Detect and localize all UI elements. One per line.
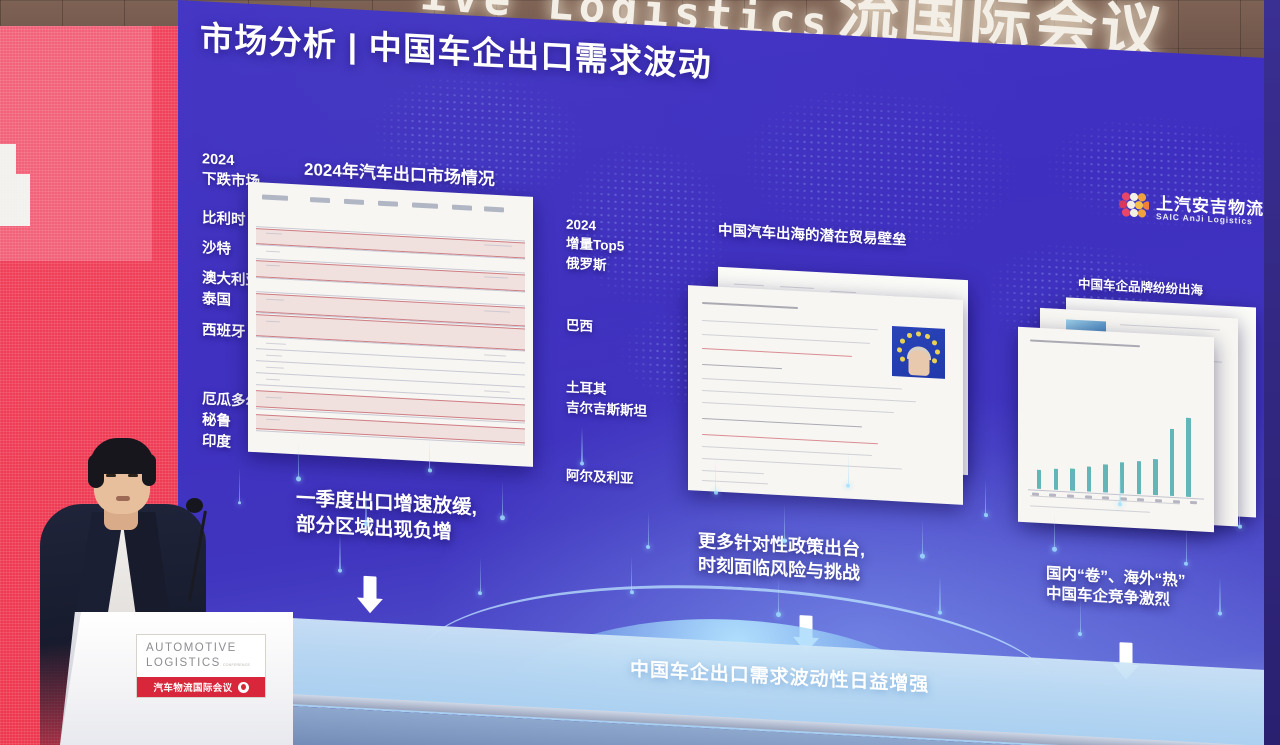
particle-trail (631, 556, 632, 590)
particle-trail (1186, 528, 1187, 562)
particle-dot (428, 468, 432, 472)
chart-x-tick (1155, 499, 1162, 502)
chart-x-tick (1173, 500, 1180, 503)
chart-bar (1037, 470, 1041, 489)
column-header-middle: 中国汽车出海的潜在贸易壁垒 (718, 219, 907, 250)
particle-trail (1219, 577, 1220, 611)
chart-bar (1170, 429, 1174, 496)
chart-bar (1054, 469, 1058, 490)
particle-trail (715, 457, 716, 491)
podium-sign-tiny-text: CONFERENCE (223, 663, 250, 667)
callout-q1-slowdown: 一季度出口增速放缓, 部分区域出现负增 (296, 486, 477, 547)
podium-sign-band-text: 汽车物流国际会议 (153, 680, 232, 694)
particle-trail (939, 577, 940, 611)
chart-x-tick (1102, 496, 1109, 499)
export-market-table-document (248, 182, 533, 467)
chart-bar (1087, 466, 1091, 491)
podium-sign-line-2: LOGISTICSCONFERENCE (146, 656, 265, 671)
chart-x-tick (1137, 498, 1144, 501)
particle-dot (920, 554, 925, 559)
particle-trail (922, 520, 923, 554)
callout-competition: 国内“卷”、海外“热” 中国车企竞争激烈 (1046, 564, 1186, 612)
particle-dot (984, 513, 988, 517)
red-wall-panel (0, 26, 152, 261)
growth-item-brazil: 巴西 (566, 314, 647, 338)
particle-dot (1238, 524, 1242, 528)
particle-dot (782, 538, 787, 543)
presentation-screen: 市场分析 | 中国车企出口需求波动 上汽安吉物流 (178, 0, 1280, 745)
particle-trail (365, 488, 366, 522)
particle-trail (239, 467, 240, 501)
particle-dot (338, 569, 342, 573)
particle-dot (296, 476, 301, 481)
particle-trail (648, 511, 649, 545)
particle-trail (429, 434, 430, 468)
podium-sign-line-2-text: LOGISTICS (146, 657, 221, 669)
conclusion-banner-text: 中国车企出口需求波动性日益增强 (630, 654, 929, 697)
podium-sign-red-band: 汽车物流国际会议 (137, 677, 265, 697)
red-wall-white-block (0, 174, 30, 226)
particle-dot (646, 545, 650, 550)
column-header-right: 中国车企品牌纷纷出海 (1078, 273, 1203, 299)
right-wall-sliver (1264, 0, 1280, 745)
brand-export-chart-document (1018, 327, 1214, 532)
particle-trail (848, 450, 849, 484)
chart-x-tick (1120, 497, 1127, 500)
speaker-hair-side-right (142, 454, 156, 486)
panda-badge-icon (238, 682, 249, 693)
podium-sign: AUTOMOTIVE LOGISTICSCONFERENCE 汽车物流国际会议 (136, 634, 266, 698)
chart-bar (1137, 461, 1141, 494)
particle-trail (298, 442, 299, 476)
conference-stage-photo: ive Logistics International Conference 流… (0, 0, 1280, 745)
growth-top5-label-group: 2024 增量Top5 俄罗斯 巴西 土耳其 吉尔吉斯斯坦 阿尔及利亚 (566, 217, 647, 488)
chart-x-tick (1190, 501, 1197, 504)
particle-dot (1118, 502, 1122, 506)
chart-bar (1103, 464, 1107, 493)
particle-trail (985, 479, 986, 513)
chart-x-tick (1049, 493, 1056, 496)
particle-dot (238, 501, 241, 505)
growth-item-russia: 俄罗斯 (566, 252, 647, 276)
particle-trail (502, 481, 503, 515)
particle-trail (1054, 513, 1055, 547)
microphone-icon (186, 498, 203, 513)
particle-trail (1239, 491, 1240, 525)
particle-dot (364, 522, 368, 526)
export-volume-bar-chart (1032, 403, 1198, 498)
particle-trail (339, 535, 340, 569)
chart-x-tick (1032, 492, 1039, 495)
chart-bar (1120, 462, 1124, 493)
particle-dot (938, 610, 942, 614)
particle-trail (581, 427, 582, 461)
speaker-eye-right (128, 474, 138, 477)
saic-anji-logistics-logo: 上汽安吉物流 SAIC AnJi Logistics (1118, 190, 1264, 229)
trade-barrier-article-document (688, 285, 963, 505)
chart-bar (1153, 459, 1157, 495)
growth-item-kyrgyzstan: 吉尔吉斯斯坦 (566, 396, 647, 420)
particle-dot (478, 591, 482, 596)
particle-trail (1080, 598, 1081, 632)
red-wall-white-block-2 (0, 144, 16, 178)
speaker-mouth (116, 496, 130, 501)
particle-dot (1078, 632, 1082, 637)
chart-bar (1070, 468, 1074, 491)
particle-trail (1119, 468, 1120, 502)
particle-dot (1218, 611, 1222, 615)
particle-dot (714, 491, 718, 495)
chart-x-tick (1067, 494, 1074, 497)
growth-item-algeria: 阿尔及利亚 (566, 464, 647, 488)
particle-trail (480, 557, 481, 591)
particle-dot (1052, 547, 1057, 552)
chart-bar (1186, 418, 1190, 497)
column-header-left: 2024年汽车出口市场情况 (304, 155, 495, 190)
speaker-eye-left (106, 474, 116, 477)
particle-dot (500, 515, 505, 520)
speaker-hair-side-left (88, 454, 104, 488)
particle-trail (784, 504, 785, 538)
hex-dots-logo-icon (1118, 190, 1149, 223)
podium-sign-top: AUTOMOTIVE LOGISTICSCONFERENCE (137, 635, 265, 677)
particle-dot (1184, 562, 1188, 567)
table-body-rows (248, 182, 533, 467)
podium-sign-line-1: AUTOMOTIVE (146, 641, 265, 656)
chart-x-tick (1085, 495, 1092, 498)
particle-dot (580, 461, 584, 465)
